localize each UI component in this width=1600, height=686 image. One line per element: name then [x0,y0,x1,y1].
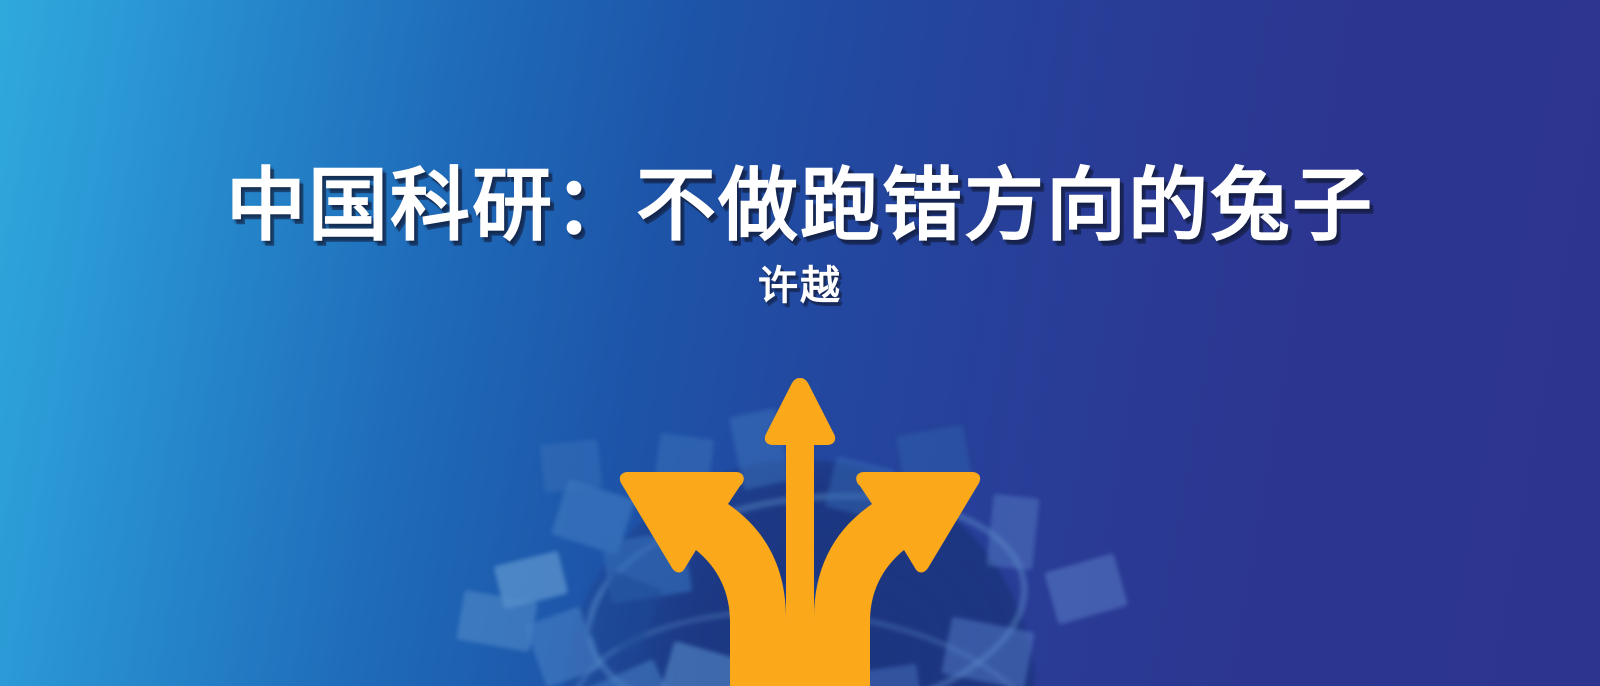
motif-shard [456,590,538,652]
arrow-branch-left-icon [620,472,786,686]
motif-shard [494,551,569,610]
motif-shard [1044,553,1128,625]
page-title: 中国科研：不做跑错方向的兔子 [0,166,1600,246]
arrow-branch-right-icon [814,472,980,686]
branching-arrow-graphic [590,378,1010,686]
title-block: 中国科研：不做跑错方向的兔子 许越 [0,166,1600,306]
author-name: 许越 [0,266,1600,306]
title-slide: 中国科研：不做跑错方向的兔子 许越 [0,0,1600,686]
